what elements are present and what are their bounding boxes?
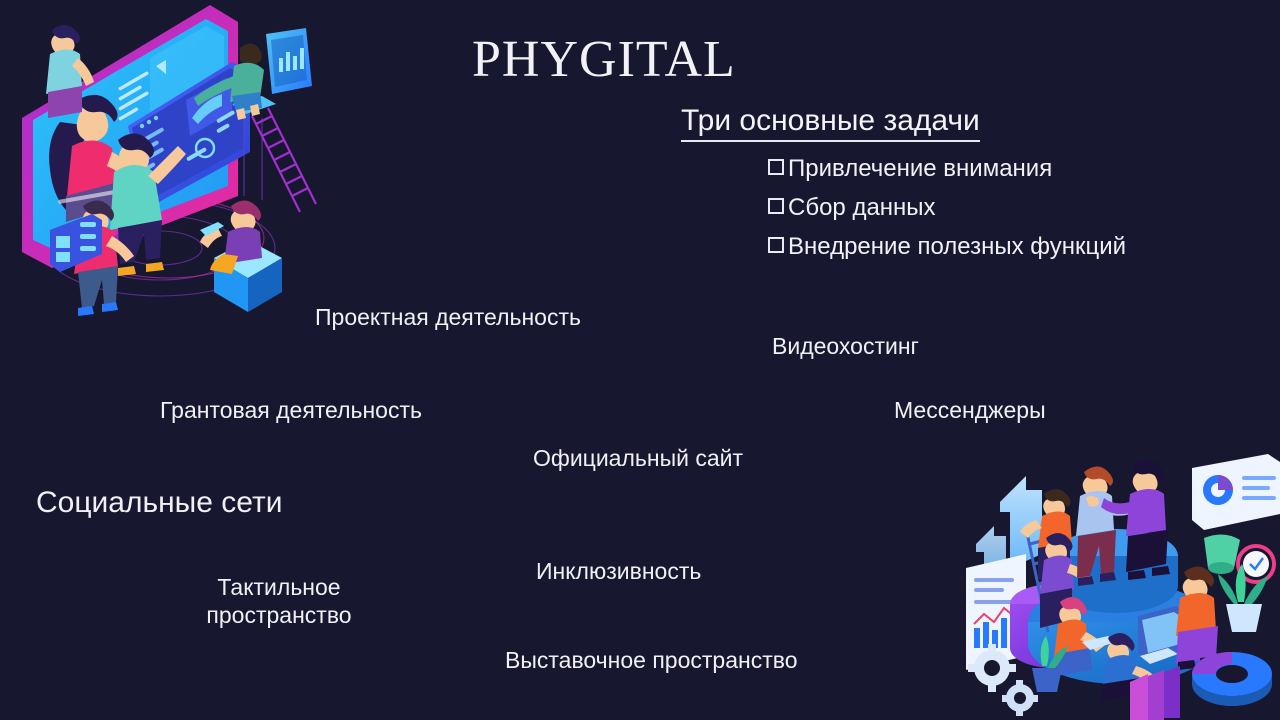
teamwork-analytics-isometric-illustration: [950, 432, 1280, 720]
tasks-list: Привлечение внимания Сбор данных Внедрен…: [768, 150, 1238, 267]
label-grant-activity: Грантовая деятельность: [160, 396, 422, 424]
label-messengers: Мессенджеры: [894, 396, 1046, 424]
list-item-label: Сбор данных: [788, 189, 936, 228]
lamp-shade: [1204, 534, 1240, 574]
donut-chart-card: [1192, 454, 1280, 530]
hollow-square-icon: [768, 159, 784, 175]
hollow-square-icon: [768, 237, 784, 253]
label-inclusivity: Инклюзивность: [536, 557, 701, 585]
video-streaming-isometric-illustration: [0, 0, 330, 330]
label-video-hosting: Видеохостинг: [772, 332, 919, 360]
label-exhibition-space: Выставочное пространство: [505, 646, 798, 674]
list-item-label: Внедрение полезных функций: [788, 228, 1126, 267]
bar-chart-card: [266, 28, 312, 94]
list-item-label: Привлечение внимания: [788, 150, 1052, 189]
section-subtitle: Три основные задачи: [681, 105, 980, 142]
page-title: PHYGITAL: [472, 30, 736, 89]
slide-canvas: PHYGITAL Три основные задачи Привлечение…: [0, 0, 1280, 720]
list-item: Внедрение полезных функций: [768, 228, 1238, 267]
label-social-networks: Социальные сети: [36, 485, 282, 522]
label-project-activity: Проектная деятельность: [315, 303, 581, 331]
donut-3d: [1192, 652, 1272, 706]
list-item: Привлечение внимания: [768, 150, 1238, 189]
label-official-site: Официальный сайт: [533, 444, 743, 472]
list-item: Сбор данных: [768, 189, 1238, 228]
standing-woman-orange: [1176, 566, 1218, 670]
label-tactile-space: Тактильное пространство: [174, 573, 384, 629]
hollow-square-icon: [768, 198, 784, 214]
